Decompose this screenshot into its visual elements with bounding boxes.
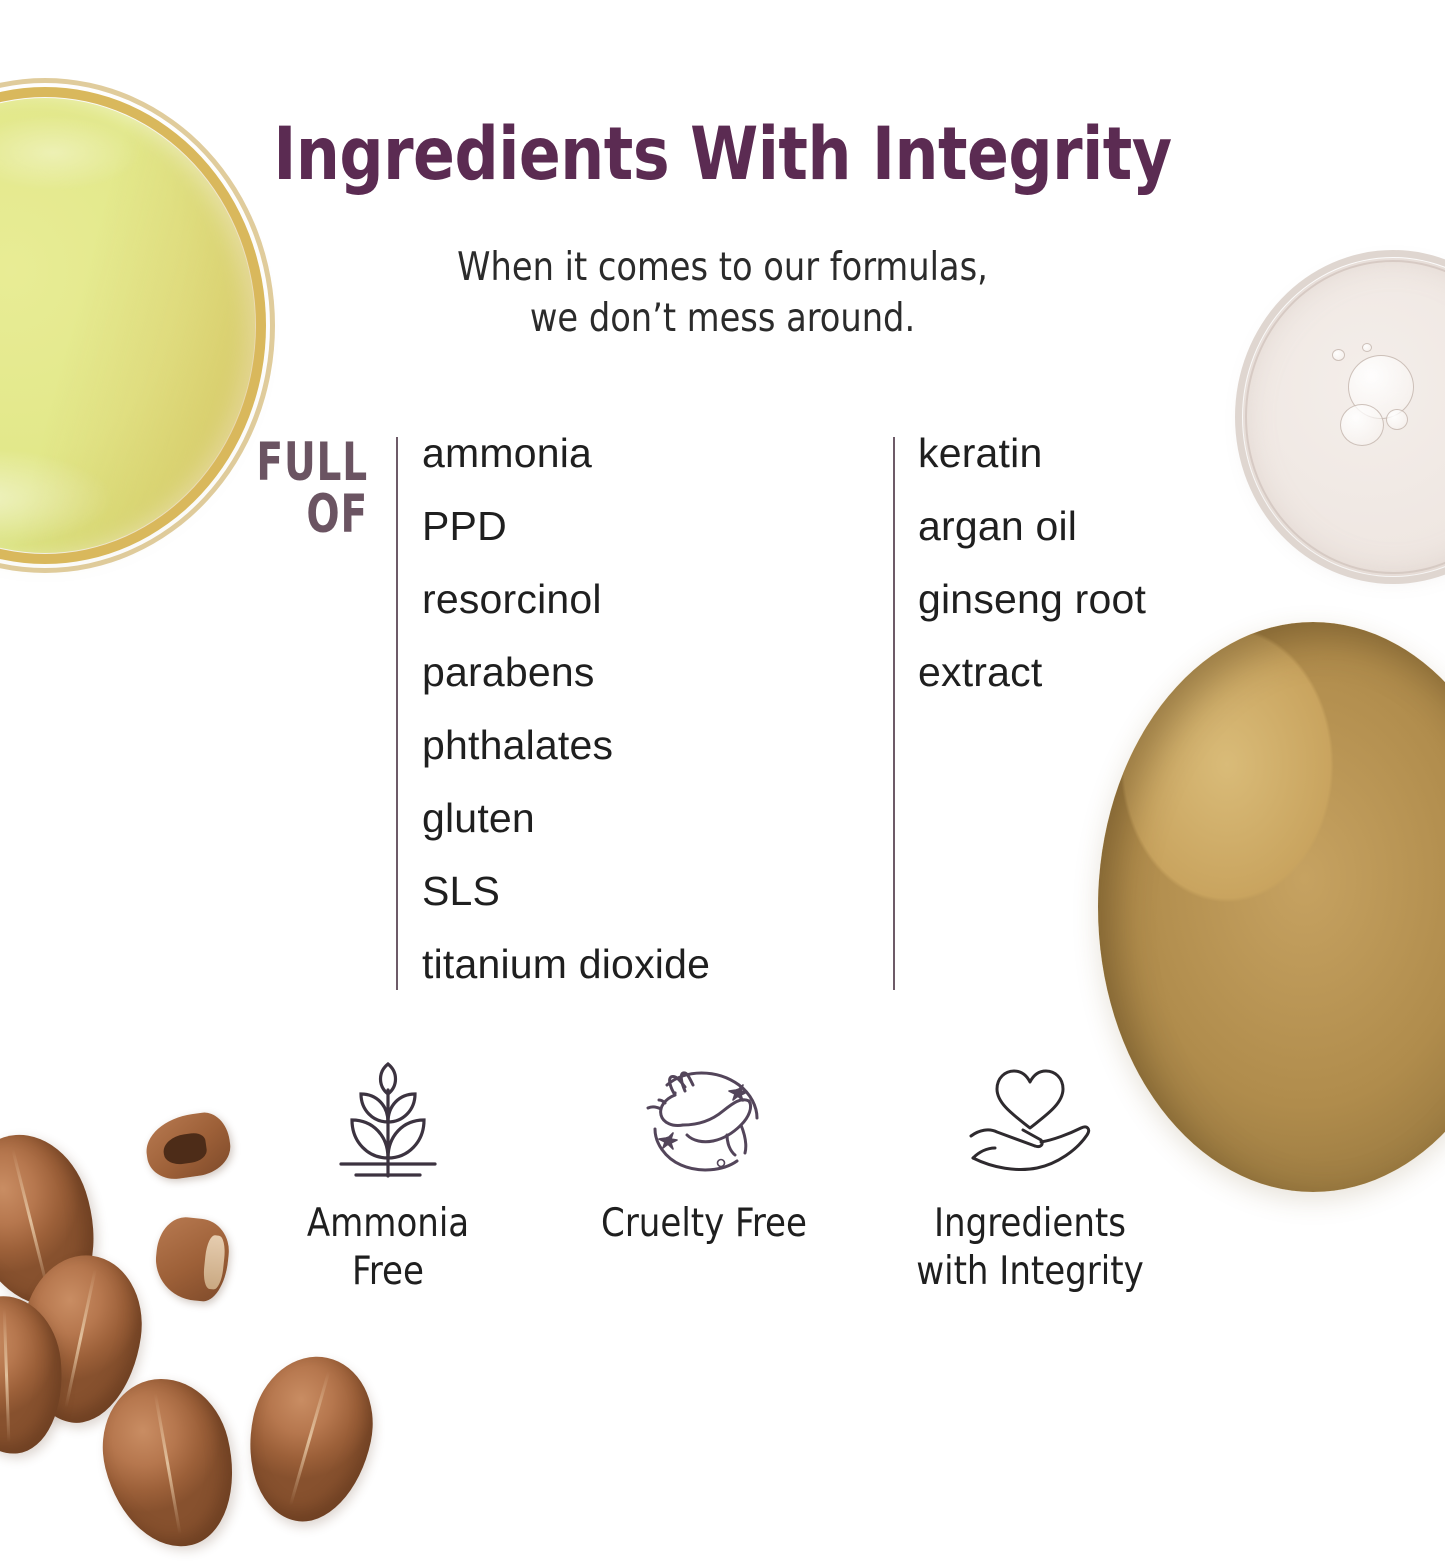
list-item: gluten: [422, 782, 710, 855]
list-item: titanium dioxide: [422, 928, 710, 1001]
list-item: SLS: [422, 855, 710, 928]
badge-label: Cruelty Free: [559, 1200, 850, 1248]
free-of-divider: [396, 437, 398, 990]
list-item: ginseng root extract: [918, 563, 1218, 709]
badge-cruelty-free: Cruelty Free: [554, 1058, 854, 1248]
list-item: ammonia: [422, 417, 710, 490]
list-item: resorcinol: [422, 563, 710, 636]
free-of-list: ammonia PPD resorcinol parabens phthalat…: [422, 417, 710, 1001]
heart-in-hand-icon: [880, 1058, 1180, 1186]
badge-label: Ingredients with Integrity: [885, 1200, 1176, 1295]
list-item: keratin: [918, 417, 1218, 490]
full-of-label: FULL OF: [155, 437, 368, 541]
leaping-bunny-icon: [554, 1058, 854, 1186]
list-item: phthalates: [422, 709, 710, 782]
full-of-list: keratin argan oil ginseng root extract: [918, 417, 1218, 709]
badge-ingredients-with-integrity: Ingredients with Integrity: [880, 1058, 1180, 1295]
infographic-canvas: Ingredients With Integrity When it comes…: [0, 0, 1445, 1445]
list-item: parabens: [422, 636, 710, 709]
full-of-divider: [893, 437, 895, 990]
plant-sprout-icon: [238, 1058, 538, 1186]
list-item: PPD: [422, 490, 710, 563]
badge-ammonia-free: Ammonia Free: [238, 1058, 538, 1295]
badge-label: Ammonia Free: [243, 1200, 534, 1295]
list-item: argan oil: [918, 490, 1218, 563]
